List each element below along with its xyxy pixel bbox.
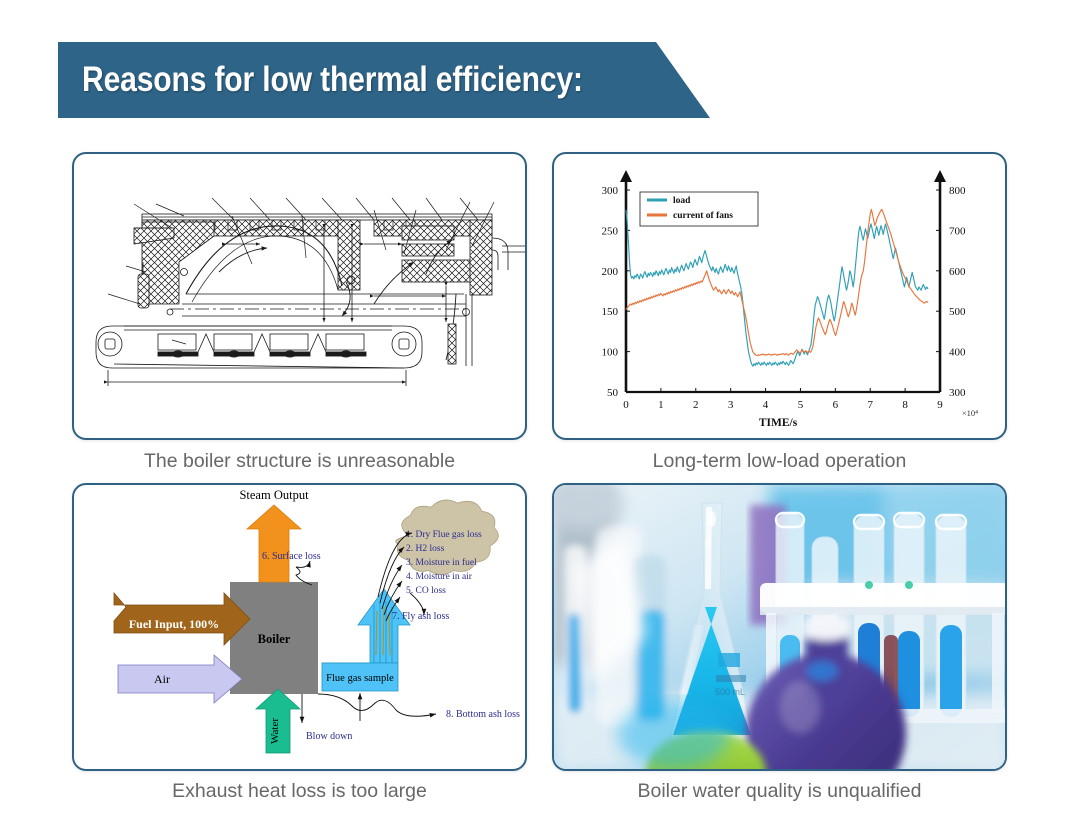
- panel-low-load-chart[interactable]: 5010015020025030030040050060070080001234…: [552, 152, 1007, 440]
- flue-gas-sample-label: Flue gas sample: [326, 673, 394, 684]
- loss-list: 1. Dry Flue gas loss 2. H2 loss 3. Moist…: [406, 530, 482, 596]
- chart-xtick: 8: [902, 399, 908, 411]
- water-label: Water: [269, 718, 281, 744]
- chart-ytick-right: 500: [949, 306, 966, 318]
- chart-xtick: 1: [658, 399, 664, 411]
- legend-label: load: [673, 196, 691, 206]
- air-label: Air: [154, 672, 170, 686]
- caption-exhaust-heat-loss: Exhaust heat loss is too large: [72, 780, 527, 803]
- surface-loss-label: 6. Surface loss: [262, 551, 321, 562]
- chart-xtick: 7: [867, 399, 873, 411]
- boiler-box-label: Boiler: [258, 632, 291, 646]
- chart-ytick-right: 600: [949, 266, 966, 278]
- chart-ytick-right: 300: [949, 387, 966, 399]
- fuel-input-label: Fuel Input, 100%: [129, 617, 219, 631]
- bottom-ash-loss-label: 8. Bottom ash loss: [446, 709, 520, 720]
- chart-xtick: 2: [693, 399, 699, 411]
- caption-boiler-structure: The boiler structure is unreasonable: [72, 450, 527, 473]
- heat-loss-block-diagram: Boiler Steam Output Fuel Input, 100% Air…: [74, 485, 527, 771]
- steam-output-label: Steam Output: [239, 488, 309, 502]
- chart-ytick-left: 250: [602, 225, 619, 237]
- chart-xtick: 4: [763, 399, 769, 411]
- chart-xtick: 5: [798, 399, 804, 411]
- chart-ytick-right: 700: [949, 225, 966, 237]
- slide-root: Reasons for low thermal efficiency:: [0, 0, 1080, 830]
- loss-item-3: 3. Moisture in fuel: [406, 557, 477, 568]
- chart-xtick: 6: [833, 399, 839, 411]
- chart-series-load: [626, 210, 928, 366]
- loss-item-2: 2. H2 loss: [406, 544, 445, 554]
- chart-ytick-left: 200: [602, 266, 619, 278]
- svg-text:500 mL: 500 mL: [715, 687, 745, 697]
- steam-output-arrow: [247, 505, 301, 582]
- bottom-ash-leader: [318, 694, 436, 716]
- panel-water-quality-photo[interactable]: 500 mL: [552, 483, 1007, 771]
- caption-water-quality: Boiler water quality is unqualified: [552, 780, 1007, 803]
- fly-ash-loss-label: 7. Fly ash loss: [392, 611, 449, 622]
- surface-loss-leader: [296, 561, 312, 585]
- chart-ytick-left: 50: [607, 387, 619, 399]
- panel-heat-loss-diagram[interactable]: Boiler Steam Output Fuel Input, 100% Air…: [72, 483, 527, 771]
- laboratory-glassware-photo: 500 mL: [554, 485, 1007, 771]
- air-arrow: [118, 655, 242, 703]
- panel-boiler-structure[interactable]: [72, 152, 527, 440]
- chart-ytick-right: 400: [949, 347, 966, 359]
- page-title: Reasons for low thermal efficiency:: [82, 60, 583, 100]
- low-load-operation-chart: 5010015020025030030040050060070080001234…: [554, 154, 1007, 440]
- boiler-structure-drawing: [74, 154, 527, 440]
- header-banner: Reasons for low thermal efficiency:: [58, 42, 718, 118]
- loss-item-4: 4. Moisture in air: [406, 572, 473, 582]
- chart-ytick-right: 800: [949, 185, 966, 197]
- caption-low-load-operation: Long-term low-load operation: [552, 450, 1007, 473]
- flue-gas-up-arrow: [322, 589, 410, 663]
- chart-ytick-left: 100: [602, 347, 619, 359]
- chart-xtick: 3: [728, 399, 734, 411]
- chart-xtick: 0: [623, 399, 629, 411]
- loss-item-1: 1. Dry Flue gas loss: [406, 530, 482, 540]
- legend-label: current of fans: [673, 211, 733, 221]
- blow-down-label: Blow down: [306, 731, 352, 742]
- chart-xlabel: TIME/s: [759, 417, 798, 429]
- chart-ytick-left: 300: [602, 185, 619, 197]
- chart-x-exponent: ×10⁴: [962, 408, 978, 418]
- chart-xtick: 9: [937, 399, 943, 411]
- chart-ytick-left: 150: [602, 306, 619, 318]
